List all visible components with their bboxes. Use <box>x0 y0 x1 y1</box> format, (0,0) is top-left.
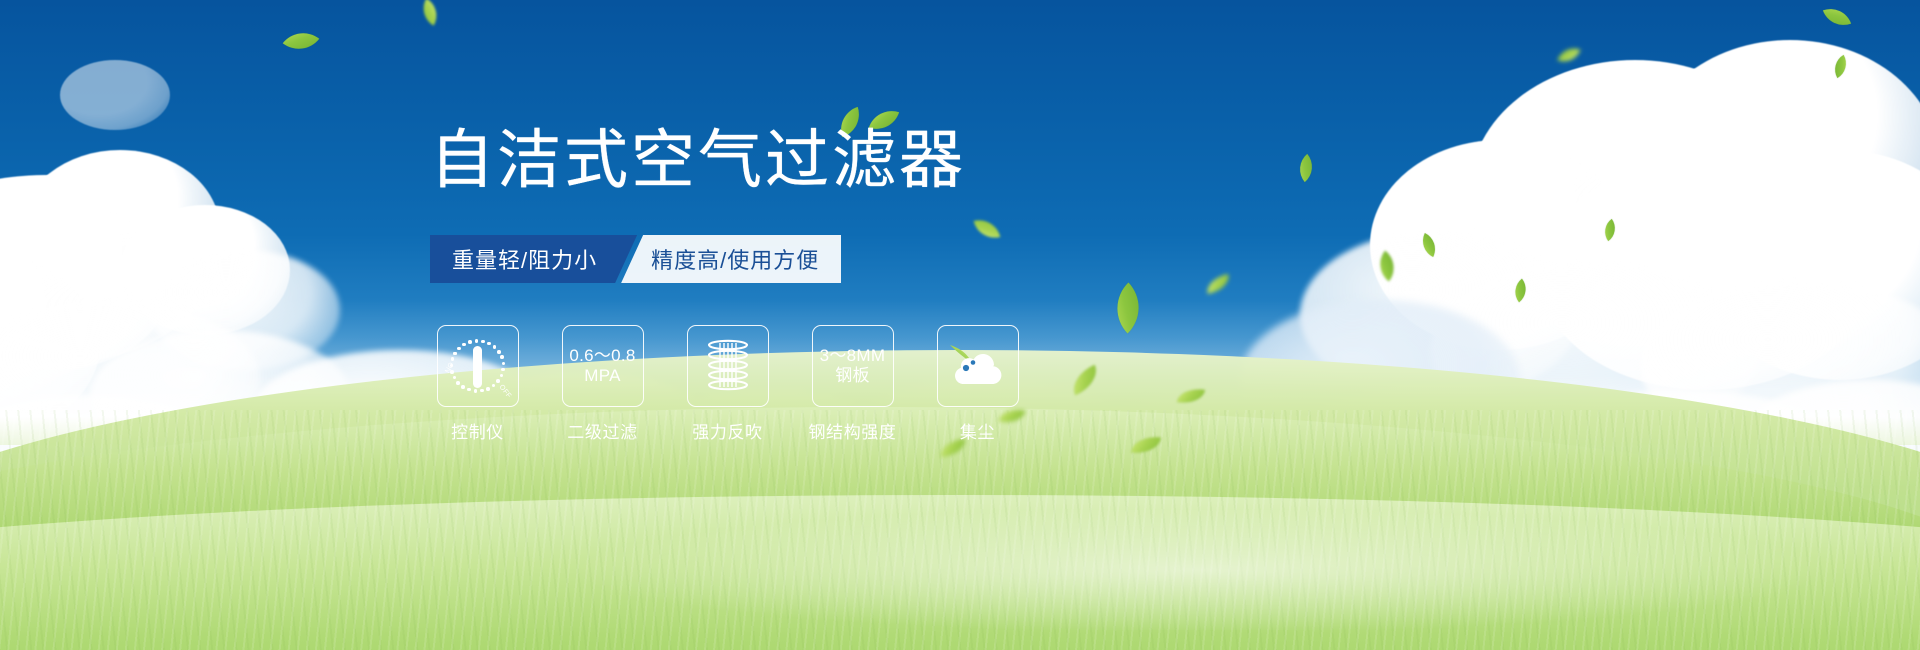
gauge-tick <box>481 340 485 344</box>
feature-icon-box: NO OFF <box>437 325 519 407</box>
gauge-tick <box>453 376 457 380</box>
banner-content: 自洁式空气过滤器 重量轻/阻力小 精度高/使用方便 NO OFF 控制仪 <box>0 0 1920 650</box>
tagline-left: 重量轻/阻力小 <box>430 235 637 283</box>
gauge-tick <box>492 384 496 388</box>
gauge-tick <box>475 339 479 343</box>
feature-icon-box: 3～8MM 钢板 <box>812 325 894 407</box>
feature-item-steel-plate[interactable]: 3～8MM 钢板 钢结构强度 <box>805 325 900 443</box>
gauge-tick <box>451 357 455 361</box>
gauge-tick <box>453 352 457 356</box>
gauge-tick <box>461 385 465 389</box>
page-title: 自洁式空气过滤器 <box>430 128 966 192</box>
feature-caption: 控制仪 <box>451 418 504 443</box>
gauge-tick <box>450 370 454 374</box>
steel-plate-label: 钢板 <box>835 366 870 386</box>
feature-caption: 集尘 <box>960 418 995 443</box>
tagline-bar: 重量轻/阻力小 精度高/使用方便 <box>430 235 841 283</box>
gauge-tick <box>500 355 504 359</box>
gauge-tick <box>457 347 461 351</box>
feature-icon-box: 0.6～0.8 MPA <box>562 325 644 407</box>
feature-item-dust-collection[interactable]: Air 集尘 <box>930 325 1025 443</box>
gauge-label-off: OFF <box>496 383 512 400</box>
gauge-tick <box>474 389 478 393</box>
gauge-tick <box>480 389 484 393</box>
gauge-needle <box>473 346 482 388</box>
gauge-tick <box>486 387 490 391</box>
feature-icon-box <box>687 325 769 407</box>
gauge-tick <box>456 381 460 385</box>
pressure-unit: MPA <box>584 366 620 386</box>
gauge-tick <box>496 379 500 383</box>
feature-item-control-gauge[interactable]: NO OFF 控制仪 <box>430 325 525 443</box>
gauge-tick <box>493 345 497 349</box>
pressure-value: 0.6～0.8 <box>569 346 635 366</box>
tagline-right: 精度高/使用方便 <box>621 235 841 283</box>
gauge-tick <box>497 350 501 354</box>
feature-item-pressure[interactable]: 0.6～0.8 MPA 二级过滤 <box>555 325 650 443</box>
gauge-tick <box>467 388 471 392</box>
feature-icon-box: Air <box>937 325 1019 407</box>
feature-caption: 钢结构强度 <box>809 418 897 443</box>
filter-cartridge-icon <box>701 337 755 395</box>
air-cloud-icon: Air <box>948 343 1008 389</box>
feature-caption: 二级过滤 <box>567 418 637 443</box>
gauge-tick <box>502 362 506 366</box>
gauge-tick <box>500 374 504 378</box>
feature-list: NO OFF 控制仪 0.6～0.8 MPA 二级过滤 <box>430 325 1025 443</box>
gauge-tick <box>462 343 466 347</box>
gauge-tick <box>487 342 491 346</box>
air-label: Air <box>971 375 984 386</box>
hero-banner: 自洁式空气过滤器 重量轻/阻力小 精度高/使用方便 NO OFF 控制仪 <box>0 0 1920 650</box>
gauge-icon: NO OFF <box>447 337 509 395</box>
gauge-tick <box>468 340 472 344</box>
steel-thickness-value: 3～8MM <box>820 346 886 366</box>
feature-item-backblow[interactable]: 强力反吹 <box>680 325 775 443</box>
feature-caption: 强力反吹 <box>692 418 762 443</box>
gauge-tick <box>501 368 505 372</box>
